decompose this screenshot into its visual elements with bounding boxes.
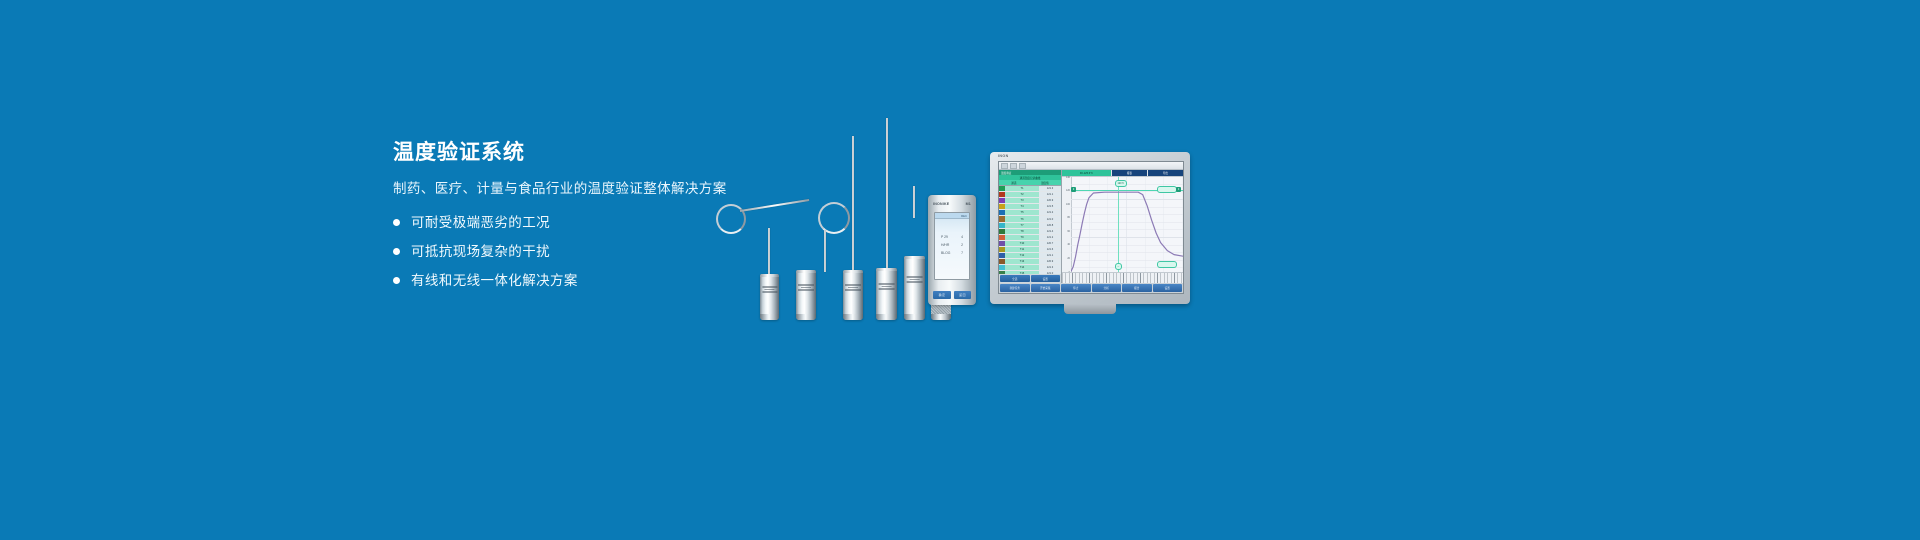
- channel-value: 120.9: [1039, 198, 1061, 203]
- validation-software-monitor: INON 温度验证 通道温度记录曲线 通道 温度值: [990, 152, 1190, 304]
- reader-row-label: BLOG: [941, 251, 950, 255]
- monitor-brand-text: INON: [998, 154, 1009, 158]
- settings-button[interactable]: 设置: [1031, 275, 1061, 282]
- bullet-dot-icon: [393, 248, 400, 255]
- y-tick-label: 40: [1067, 243, 1070, 246]
- reader-status-text: REC: [961, 214, 967, 218]
- probe-stem: [768, 228, 770, 274]
- reader-confirm-button[interactable]: 确 定: [933, 291, 951, 299]
- monitor-stand: [1064, 304, 1116, 314]
- short-probe-icon: [913, 186, 915, 218]
- probe-stem: [824, 230, 826, 272]
- reader-reading-row: P 29 4: [935, 235, 969, 239]
- channel-name: T10: [1005, 241, 1039, 246]
- probe-stem: [740, 199, 809, 212]
- reader-reading-row: H/HR 2: [935, 243, 969, 247]
- channel-value: 120.8: [1039, 223, 1061, 228]
- channel-name: T2: [1005, 192, 1039, 197]
- handheld-reader[interactable]: INONIKE M1 REC P 29 4 H/HR 2 BLOG 7: [928, 195, 976, 305]
- channel-name: T8: [1005, 229, 1039, 234]
- channel-name: T3: [1005, 198, 1039, 203]
- logger-coil-probe-2: [796, 270, 816, 320]
- feature-text: 可抵抗现场复杂的干扰: [411, 243, 550, 260]
- channel-name: T13: [1005, 259, 1039, 264]
- toolbar-new-task[interactable]: 新建任务: [1000, 284, 1030, 292]
- toolbar-start[interactable]: 开始采集: [1031, 284, 1061, 292]
- channel-value: 121.0: [1039, 216, 1061, 221]
- y-tick-label: 120: [1066, 189, 1070, 192]
- channel-value: 121.1: [1039, 253, 1061, 258]
- y-tick-label: 60: [1067, 230, 1070, 233]
- open-icon[interactable]: [1010, 163, 1017, 169]
- channel-name: T11: [1005, 247, 1039, 252]
- channel-value: 121.6: [1039, 247, 1061, 252]
- needle-probe-icon: [852, 136, 854, 274]
- reader-row-label: P 29: [941, 235, 948, 239]
- save-icon[interactable]: [1019, 163, 1026, 169]
- chart-canvas: 020406080100120140 121℃ -- 0 0: [1062, 176, 1183, 272]
- reader-button-row: 确 定 返 回: [933, 291, 971, 299]
- product-photo: INONIKE M1 REC P 29 4 H/HR 2 BLOG 7: [700, 110, 1220, 320]
- channel-name: T7: [1005, 223, 1039, 228]
- channel-value: 121.1: [1039, 192, 1061, 197]
- column-header-channel: 通道: [1011, 181, 1016, 185]
- channel-name: T5: [1005, 210, 1039, 215]
- reader-screen: REC P 29 4 H/HR 2 BLOG 7: [934, 212, 970, 280]
- y-tick-label: 140: [1066, 176, 1070, 179]
- channel-value: 120.9: [1039, 259, 1061, 264]
- logger-coil-probe-1: [760, 274, 779, 320]
- channel-table: 温度验证 通道温度记录曲线 通道 温度值 T1121.3T2121.1T3120…: [999, 170, 1062, 283]
- reader-model-text: M1: [966, 202, 971, 206]
- software-titlebar: [999, 162, 1183, 170]
- channel-name: T6: [1005, 216, 1039, 221]
- feature-text: 可耐受极端恶劣的工况: [411, 214, 550, 231]
- y-tick-label: 20: [1067, 257, 1070, 260]
- reader-branding: INONIKE M1: [928, 202, 976, 206]
- channel-name: T4: [1005, 204, 1039, 209]
- reader-row-value: 2: [961, 243, 963, 247]
- channel-value: 121.3: [1039, 265, 1061, 270]
- coil-probe-icon: [818, 202, 850, 234]
- channel-value: 121.2: [1039, 235, 1061, 240]
- reader-row-value: 4: [961, 235, 963, 239]
- channel-value: 121.2: [1039, 210, 1061, 215]
- coil-probe-icon: [716, 204, 746, 234]
- reader-brand-text: INONIKE: [933, 202, 949, 206]
- needle-probe-icon: [886, 118, 888, 274]
- column-header-value: 温度值: [1041, 181, 1049, 185]
- table-body[interactable]: T1121.3T2121.1T3120.9T4121.5T5121.2T6121…: [999, 186, 1061, 274]
- reader-row-label: H/HR: [941, 243, 949, 247]
- y-tick-label: 100: [1066, 203, 1070, 206]
- reader-reading-row: BLOG 7: [935, 251, 969, 255]
- channel-name: T1: [1005, 186, 1039, 191]
- channel-value: 121.3: [1039, 186, 1061, 191]
- x-axis: [1062, 272, 1183, 283]
- chart-panel: F0-125.6℃ 报表 导出 020406080100120140 121℃ …: [1062, 170, 1183, 283]
- select-all-button[interactable]: 全选: [1000, 275, 1030, 282]
- menu-icon[interactable]: [1001, 163, 1008, 169]
- feature-text: 有线和无线一体化解决方案: [411, 272, 578, 289]
- table-footer: 全选 设置: [999, 274, 1061, 283]
- logger-needle-long: [843, 270, 863, 320]
- channel-name: T12: [1005, 253, 1039, 258]
- y-tick-label: 80: [1067, 216, 1070, 219]
- software-body: 温度验证 通道温度记录曲线 通道 温度值 T1121.3T2121.1T3120…: [999, 170, 1183, 283]
- reader-status-bar: REC: [935, 213, 969, 219]
- hero-banner: 温度验证系统 制药、医疗、计量与食品行业的温度验证整体解决方案 可耐受极端恶劣的…: [0, 0, 1920, 540]
- reader-row-value: 7: [961, 251, 963, 255]
- reader-back-button[interactable]: 返 回: [954, 291, 972, 299]
- channel-name: T9: [1005, 235, 1039, 240]
- channel-value: 120.7: [1039, 241, 1061, 246]
- channel-name: T14: [1005, 265, 1039, 270]
- bullet-dot-icon: [393, 219, 400, 226]
- logger-needle-tall: [876, 268, 897, 320]
- software-screen: 温度验证 通道温度记录曲线 通道 温度值 T1121.3T2121.1T3120…: [998, 161, 1184, 294]
- channel-value: 121.5: [1039, 204, 1061, 209]
- logger-stub: [904, 256, 925, 320]
- bullet-dot-icon: [393, 277, 400, 284]
- channel-value: 121.4: [1039, 229, 1061, 234]
